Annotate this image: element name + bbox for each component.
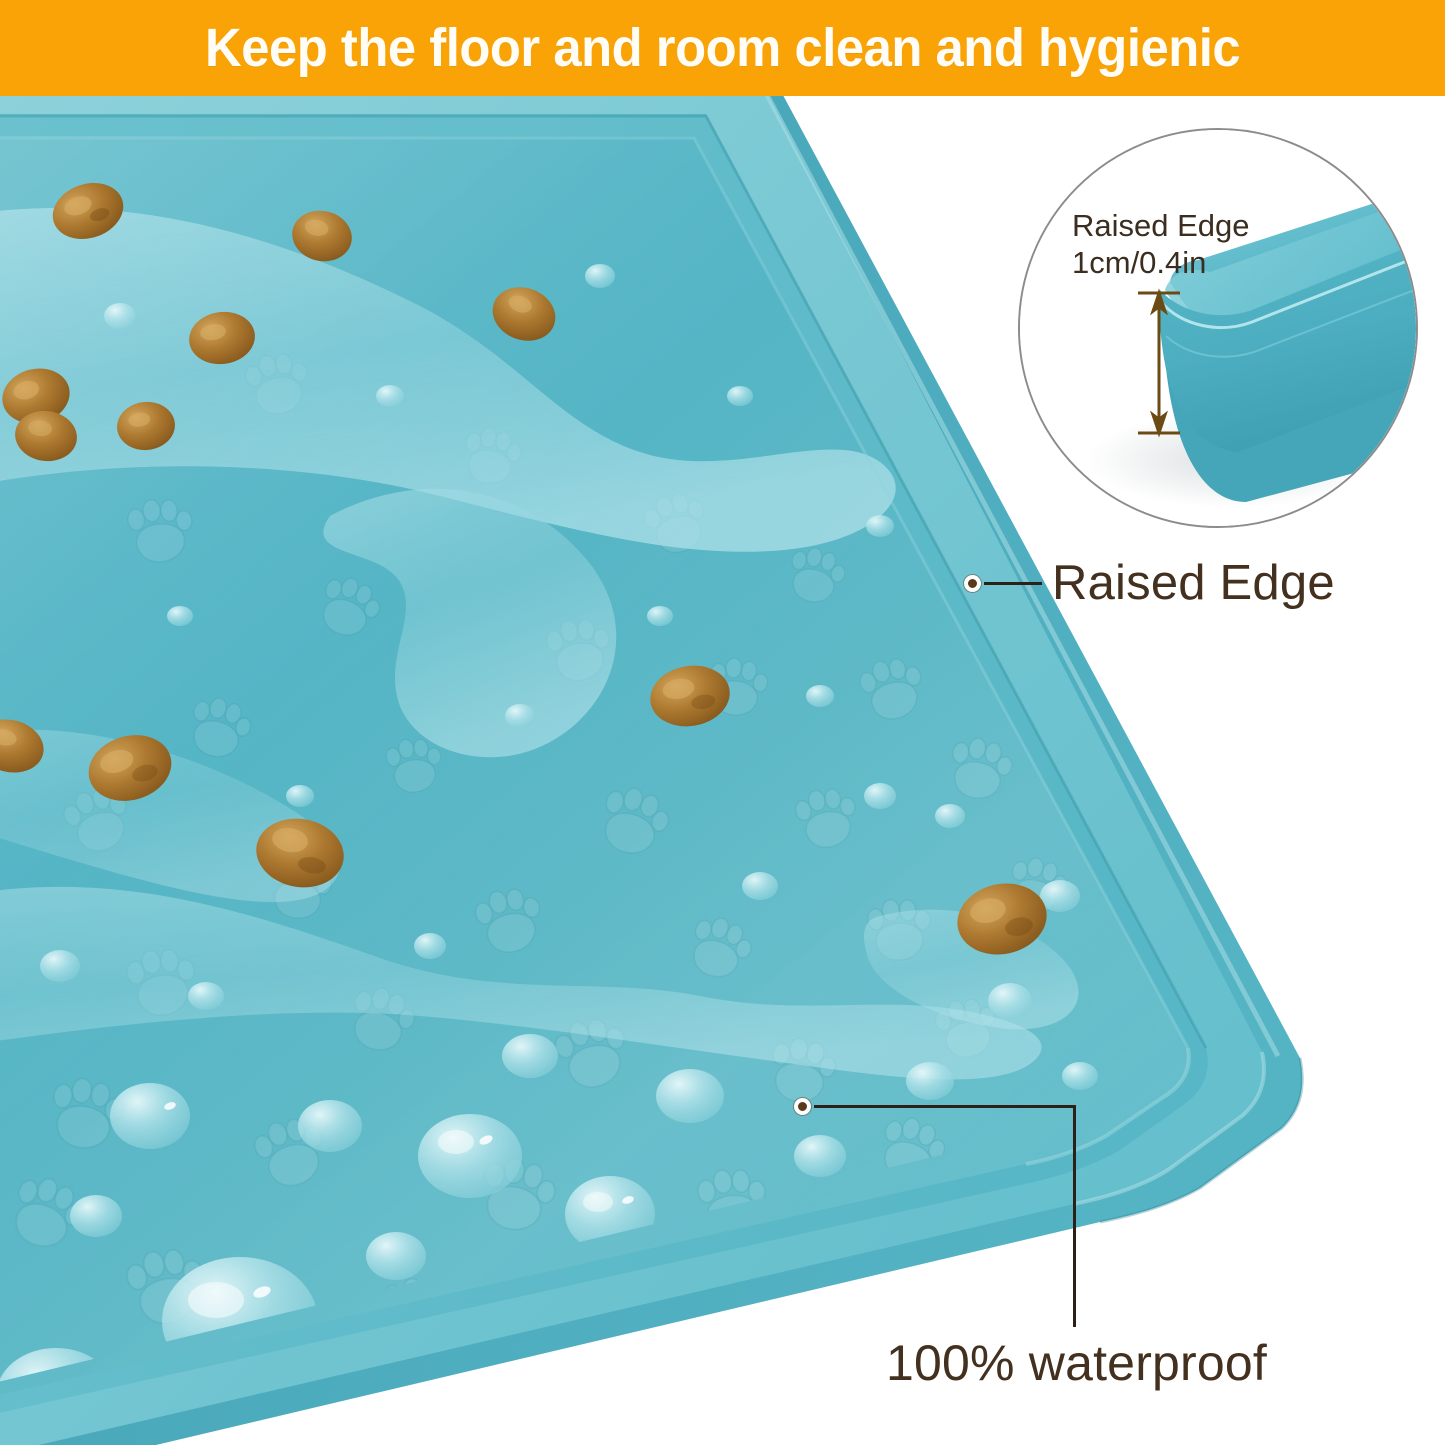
callout-label-raised-edge: Raised Edge [1052,555,1335,611]
headline-banner: Keep the floor and room clean and hygien… [0,0,1445,96]
inset-caption-line-1: Raised Edge [1072,207,1250,245]
product-image-canvas: Keep the floor and room clean and hygien… [0,0,1445,1445]
callout-label-waterproof: 100% waterproof [886,1334,1267,1392]
raised-edge-detail-inset [1018,128,1418,528]
headline-text: Keep the floor and room clean and hygien… [205,17,1240,79]
inset-caption-line-2: 1cm/0.4in [1072,244,1206,282]
